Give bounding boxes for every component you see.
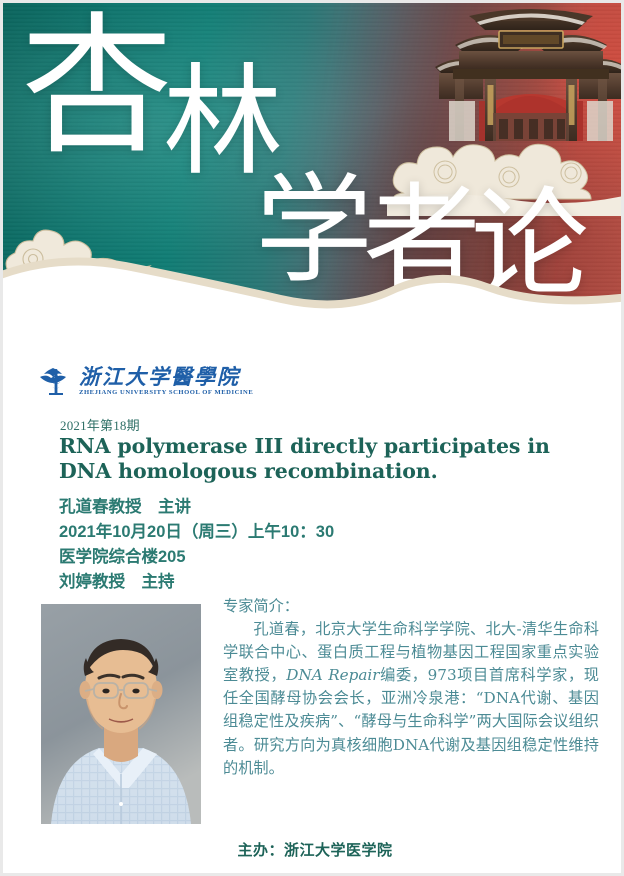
poster-root: 杏 林 学 者 论 坛 浙江大学醫學院 ZHEJIANG UNIVERS — [0, 0, 624, 876]
talk-meta-block: 孔道春教授 主讲 2021年10月20日（周三）上午10：30 医学院综合楼20… — [59, 495, 334, 595]
bio-journal-name: DNA Repair — [286, 666, 379, 684]
organizer-line: 主办：浙江大学医学院 — [3, 839, 624, 860]
logo-english-name: ZHEJIANG UNIVERSITY SCHOOL OF MEDICINE — [79, 390, 253, 397]
bio-text: 孔道春，北京大学生命科学学院、北大-清华生命科学联合中心、蛋白质工程与植物基因工… — [223, 618, 599, 780]
issue-number: 2021年第18期 — [60, 415, 140, 434]
banner-artwork: 杏 林 学 者 论 坛 — [3, 3, 624, 419]
banner-char-1: 杏 — [21, 11, 173, 163]
speaker-bio: 专家简介： 孔道春，北京大学生命科学学院、北大-清华生命科学联合中心、蛋白质工程… — [223, 595, 599, 780]
speaker-photo — [41, 604, 201, 824]
speaker-portrait-illustration — [41, 604, 201, 824]
caduceus-icon — [39, 365, 73, 397]
datetime-line: 2021年10月20日（周三）上午10：30 — [59, 520, 334, 545]
logo-chinese-name: 浙江大学醫學院 — [79, 366, 253, 387]
zju-medicine-logo: 浙江大学醫學院 ZHEJIANG UNIVERSITY SCHOOL OF ME… — [39, 365, 253, 397]
bio-heading: 专家简介： — [223, 595, 599, 618]
venue-line: 医学院综合楼205 — [59, 545, 334, 570]
talk-title: RNA polymerase III directly participates… — [59, 434, 579, 484]
moderator-line: 刘婷教授 主持 — [59, 570, 334, 595]
speaker-line: 孔道春教授 主讲 — [59, 495, 334, 520]
